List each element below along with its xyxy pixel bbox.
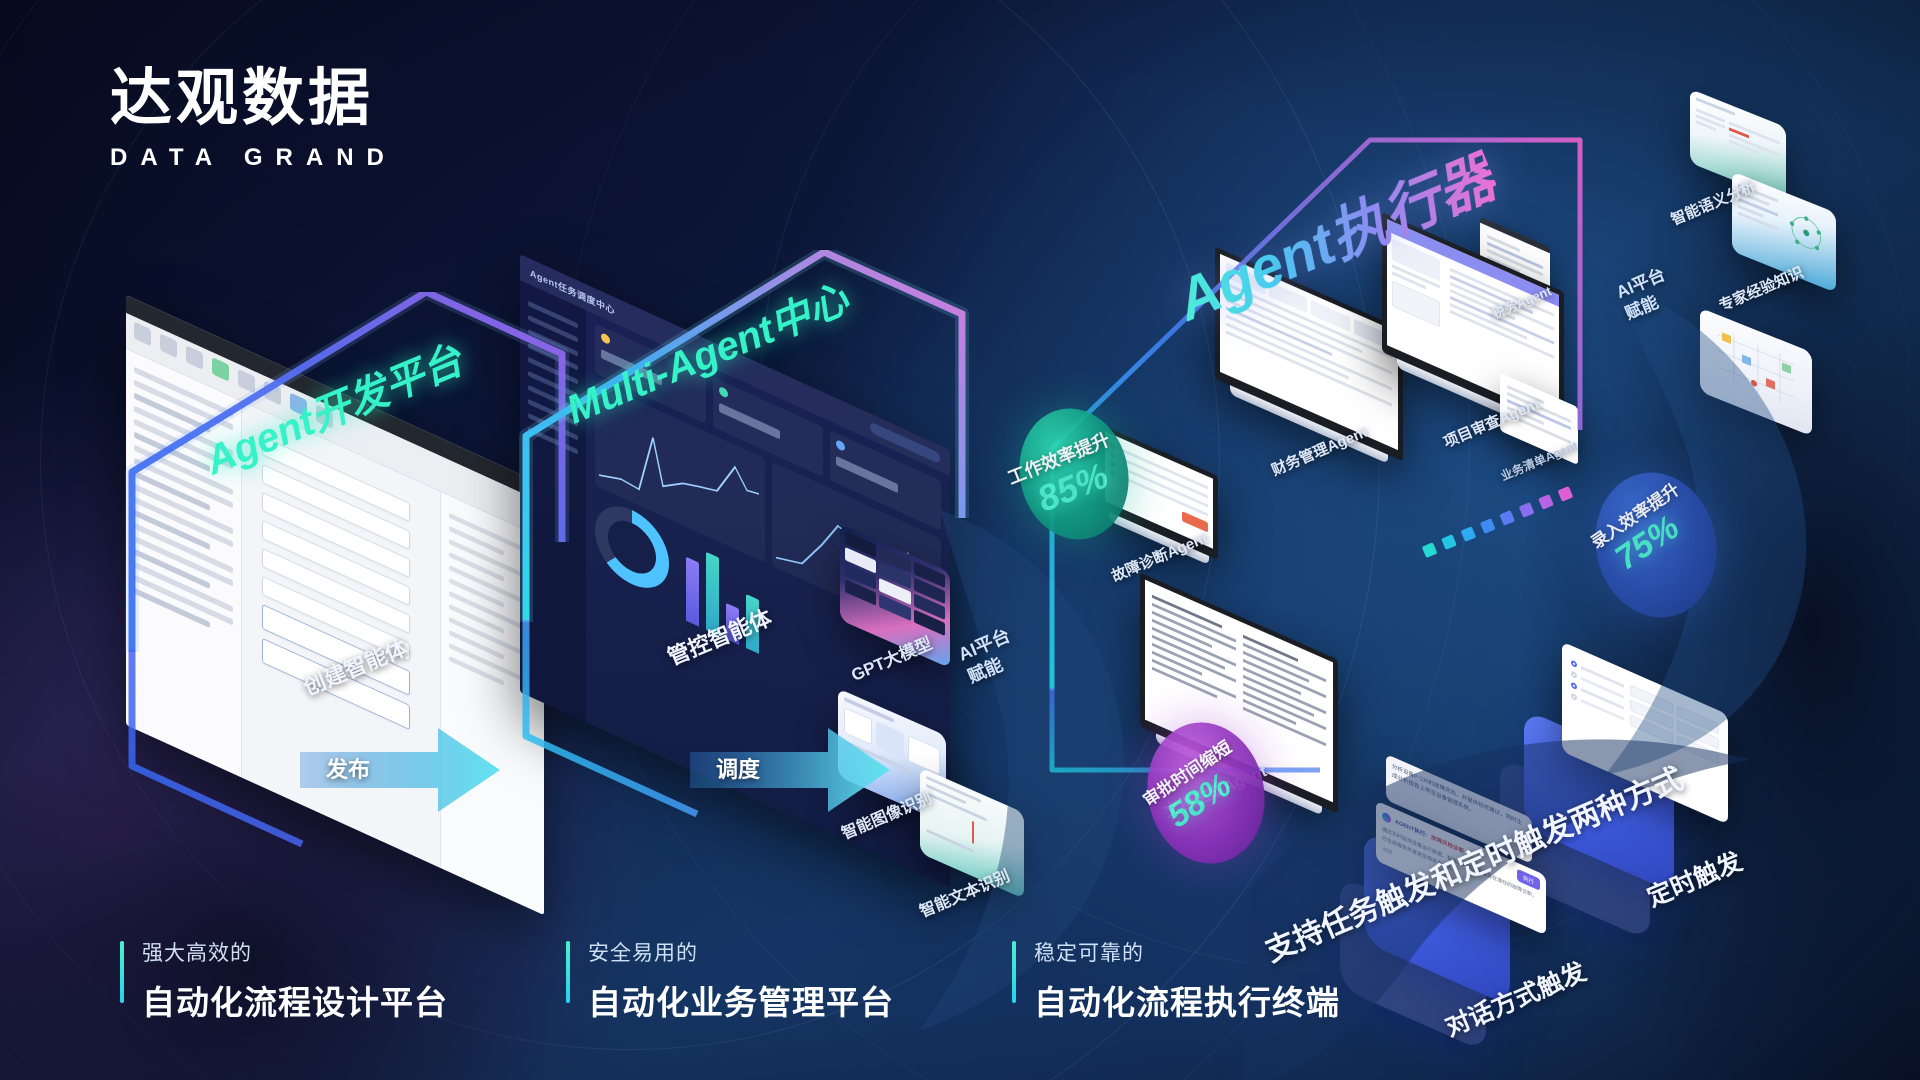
tagline-1: 强大高效的 自动化流程设计平台 — [120, 937, 448, 1024]
tagline-small: 安全易用的 — [588, 937, 894, 967]
tagline-big: 自动化流程执行终端 — [1034, 976, 1340, 1024]
tagline-3: 稳定可靠的 自动化流程执行终端 — [1012, 937, 1340, 1024]
tagline-big: 自动化业务管理平台 — [588, 976, 894, 1024]
tagline-2: 安全易用的 自动化业务管理平台 — [566, 937, 894, 1024]
tagline-small: 强大高效的 — [142, 937, 448, 967]
tagline-row: 强大高效的 自动化流程设计平台 安全易用的 自动化业务管理平台 稳定可靠的 自动… — [120, 937, 1340, 1024]
arrow-label-publish: 发布 — [326, 752, 370, 784]
brand-logo: 达观数据 DATA GRAND — [110, 68, 397, 172]
tagline-big: 自动化流程设计平台 — [142, 976, 448, 1024]
arrow-publish: 发布 — [300, 700, 550, 835]
tagline-small: 稳定可靠的 — [1034, 937, 1340, 967]
brand-name-en: DATA GRAND — [110, 144, 397, 172]
poster-canvas: 达观数据 DATA GRAND — [0, 0, 1920, 1080]
brand-name-cn: 达观数据 — [110, 68, 397, 130]
arrow-label-dispatch: 调度 — [716, 752, 760, 784]
